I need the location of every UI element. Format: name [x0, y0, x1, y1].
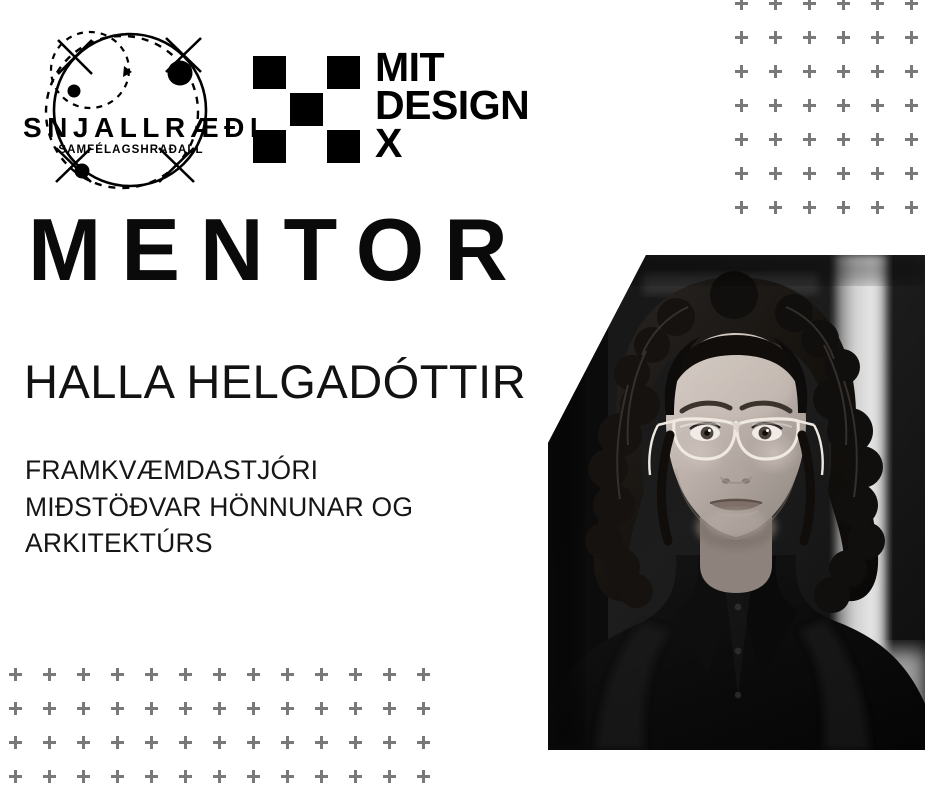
- pattern-bottom-left-plus: [43, 736, 56, 749]
- snjallradi-orbit-icon: [18, 22, 243, 197]
- mdx-line-mit: MIT: [375, 48, 529, 86]
- pattern-bottom-left-plus: [383, 736, 396, 749]
- pattern-top-right-plus: [769, 0, 782, 10]
- pattern-bottom-left-plus: [145, 668, 158, 681]
- pattern-top-right-plus: [769, 167, 782, 180]
- pattern-top-right-plus: [905, 133, 918, 146]
- pattern-bottom-left-plus: [213, 702, 226, 715]
- pattern-top-right-plus: [871, 167, 884, 180]
- plus-pattern-bottom-left: [9, 668, 439, 788]
- job-title-line-3: ARKITEKTÚRS: [25, 525, 495, 562]
- pattern-bottom-left-plus: [383, 668, 396, 681]
- pattern-bottom-left-plus: [145, 770, 158, 783]
- pattern-bottom-left-plus: [179, 770, 192, 783]
- pattern-bottom-left-plus: [179, 668, 192, 681]
- pattern-bottom-left-plus: [281, 770, 294, 783]
- pattern-bottom-left-plus: [383, 702, 396, 715]
- mentor-poster: SNJALLRÆÐI SAMFÉLAGSHRAÐALL MIT DESIGN X…: [0, 0, 940, 788]
- pattern-bottom-left-plus: [43, 702, 56, 715]
- pattern-top-right-plus: [837, 0, 850, 10]
- pattern-top-right-plus: [905, 31, 918, 44]
- pattern-bottom-left-plus: [213, 770, 226, 783]
- mentor-name: HALLA HELGADÓTTIR: [24, 358, 526, 405]
- pattern-bottom-left-plus: [9, 770, 22, 783]
- pattern-top-right-plus: [769, 31, 782, 44]
- pattern-top-right-plus: [803, 167, 816, 180]
- square-top-left: [253, 56, 286, 89]
- square-center: [290, 93, 323, 126]
- pattern-top-right-plus: [905, 167, 918, 180]
- pattern-top-right-plus: [837, 133, 850, 146]
- pattern-bottom-left-plus: [281, 736, 294, 749]
- plus-pattern-top-right: [735, 0, 940, 222]
- pattern-top-right-plus: [871, 65, 884, 78]
- pattern-top-right-plus: [735, 167, 748, 180]
- snjallradi-logo: SNJALLRÆÐI SAMFÉLAGSHRAÐALL: [18, 22, 243, 197]
- pattern-bottom-left-plus: [43, 668, 56, 681]
- pattern-bottom-left-plus: [9, 736, 22, 749]
- pattern-top-right-plus: [803, 201, 816, 214]
- pattern-top-right-plus: [769, 65, 782, 78]
- pattern-bottom-left-plus: [145, 736, 158, 749]
- pattern-bottom-left-plus: [145, 702, 158, 715]
- square-bottom-left: [253, 130, 286, 163]
- pattern-bottom-left-plus: [77, 668, 90, 681]
- snjallradi-wordmark-block: SNJALLRÆÐI SAMFÉLAGSHRAÐALL: [18, 114, 243, 157]
- pattern-bottom-left-plus: [417, 770, 430, 783]
- pattern-bottom-left-plus: [315, 770, 328, 783]
- pattern-top-right-plus: [803, 31, 816, 44]
- pattern-top-right-plus: [735, 133, 748, 146]
- pattern-top-right-plus: [837, 65, 850, 78]
- pattern-top-right-plus: [871, 99, 884, 112]
- pattern-bottom-left-plus: [77, 702, 90, 715]
- mit-design-x-logo: MIT DESIGN X: [253, 48, 538, 168]
- pattern-top-right-plus: [905, 201, 918, 214]
- pattern-bottom-left-plus: [111, 770, 124, 783]
- pattern-bottom-left-plus: [247, 668, 260, 681]
- snjallradi-tagline: SAMFÉLAGSHRAÐALL: [18, 145, 243, 157]
- pattern-bottom-left-plus: [315, 736, 328, 749]
- pattern-bottom-left-plus: [417, 668, 430, 681]
- pattern-top-right-plus: [735, 201, 748, 214]
- pattern-top-right-plus: [769, 133, 782, 146]
- pattern-top-right-plus: [905, 0, 918, 10]
- pattern-top-right-plus: [871, 133, 884, 146]
- pattern-bottom-left-plus: [281, 668, 294, 681]
- pattern-bottom-left-plus: [247, 770, 260, 783]
- pattern-bottom-left-plus: [417, 702, 430, 715]
- pattern-top-right-plus: [871, 31, 884, 44]
- pattern-top-right-plus: [871, 0, 884, 10]
- pattern-top-right-plus: [837, 201, 850, 214]
- pattern-bottom-left-plus: [383, 770, 396, 783]
- pattern-bottom-left-plus: [247, 736, 260, 749]
- job-title-line-1: FRAMKVÆMDASTJÓRI: [25, 452, 495, 489]
- pattern-bottom-left-plus: [349, 736, 362, 749]
- pattern-top-right-plus: [905, 99, 918, 112]
- snjallradi-wordmark: SNJALLRÆÐI: [18, 114, 243, 142]
- pattern-top-right-plus: [803, 65, 816, 78]
- pattern-bottom-left-plus: [179, 702, 192, 715]
- pattern-bottom-left-plus: [247, 702, 260, 715]
- pattern-bottom-left-plus: [213, 736, 226, 749]
- pattern-bottom-left-plus: [349, 702, 362, 715]
- mentor-job-title: FRAMKVÆMDASTJÓRI MIÐSTÖÐVAR HÖNNUNAR OG …: [25, 452, 495, 562]
- pattern-top-right-plus: [735, 99, 748, 112]
- pattern-bottom-left-plus: [43, 770, 56, 783]
- page-title: MENTOR: [28, 206, 528, 294]
- pattern-top-right-plus: [803, 0, 816, 10]
- mentor-portrait-photo: [548, 255, 925, 750]
- pattern-top-right-plus: [905, 65, 918, 78]
- pattern-top-right-plus: [735, 0, 748, 10]
- pattern-top-right-plus: [735, 31, 748, 44]
- mdx-line-x: X: [375, 124, 529, 162]
- pattern-bottom-left-plus: [417, 736, 430, 749]
- pattern-bottom-left-plus: [315, 668, 328, 681]
- pattern-top-right-plus: [871, 201, 884, 214]
- pattern-bottom-left-plus: [9, 668, 22, 681]
- pattern-top-right-plus: [803, 99, 816, 112]
- pattern-top-right-plus: [769, 201, 782, 214]
- pattern-bottom-left-plus: [9, 702, 22, 715]
- pattern-bottom-left-plus: [349, 668, 362, 681]
- pattern-top-right-plus: [803, 133, 816, 146]
- pattern-bottom-left-plus: [111, 736, 124, 749]
- pattern-bottom-left-plus: [281, 702, 294, 715]
- pattern-bottom-left-plus: [315, 702, 328, 715]
- mit-design-x-wordmark: MIT DESIGN X: [375, 48, 529, 162]
- portrait-illustration: [548, 255, 925, 750]
- mit-design-x-squares-icon: [253, 56, 361, 161]
- pattern-top-right-plus: [769, 99, 782, 112]
- pattern-bottom-left-plus: [179, 736, 192, 749]
- pattern-bottom-left-plus: [349, 770, 362, 783]
- mdx-line-design: DESIGN: [375, 86, 529, 124]
- pattern-top-right-plus: [837, 99, 850, 112]
- square-bottom-right: [327, 130, 360, 163]
- square-top-right: [327, 56, 360, 89]
- pattern-bottom-left-plus: [111, 702, 124, 715]
- pattern-bottom-left-plus: [213, 668, 226, 681]
- pattern-bottom-left-plus: [111, 668, 124, 681]
- pattern-top-right-plus: [837, 167, 850, 180]
- pattern-top-right-plus: [837, 31, 850, 44]
- pattern-bottom-left-plus: [77, 770, 90, 783]
- job-title-line-2: MIÐSTÖÐVAR HÖNNUNAR OG: [25, 489, 495, 526]
- pattern-bottom-left-plus: [77, 736, 90, 749]
- pattern-top-right-plus: [735, 65, 748, 78]
